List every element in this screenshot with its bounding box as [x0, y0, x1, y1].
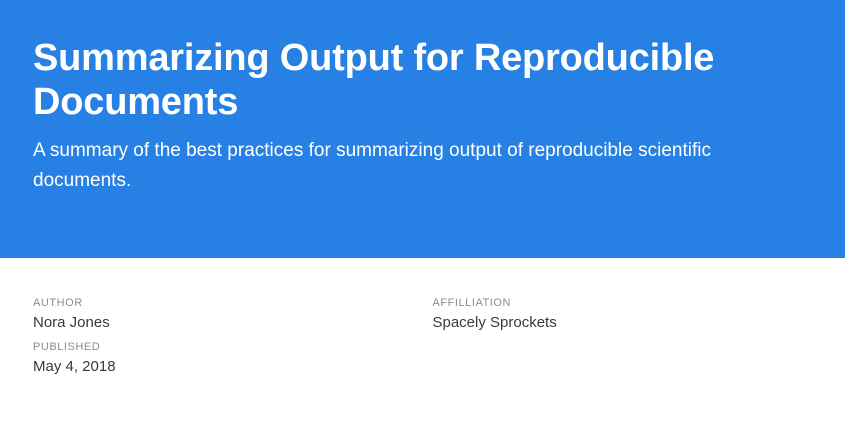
affiliation-label: AFFILLIATION [432, 296, 812, 312]
document-metadata: AUTHOR Nora Jones PUBLISHED May 4, 2018 … [0, 258, 845, 379]
author-label: AUTHOR [33, 296, 432, 312]
metadata-column-author: AUTHOR Nora Jones PUBLISHED May 4, 2018 [33, 296, 432, 379]
published-value: May 4, 2018 [33, 356, 432, 379]
page-subtitle: A summary of the best practices for summ… [33, 136, 793, 196]
author-value: Nora Jones [33, 312, 432, 335]
title-banner: Summarizing Output for Reproducible Docu… [0, 0, 845, 258]
page-title: Summarizing Output for Reproducible Docu… [33, 36, 733, 124]
published-label: PUBLISHED [33, 340, 432, 356]
affiliation-value: Spacely Sprockets [432, 312, 812, 335]
metadata-column-affiliation: AFFILLIATION Spacely Sprockets [432, 296, 812, 334]
